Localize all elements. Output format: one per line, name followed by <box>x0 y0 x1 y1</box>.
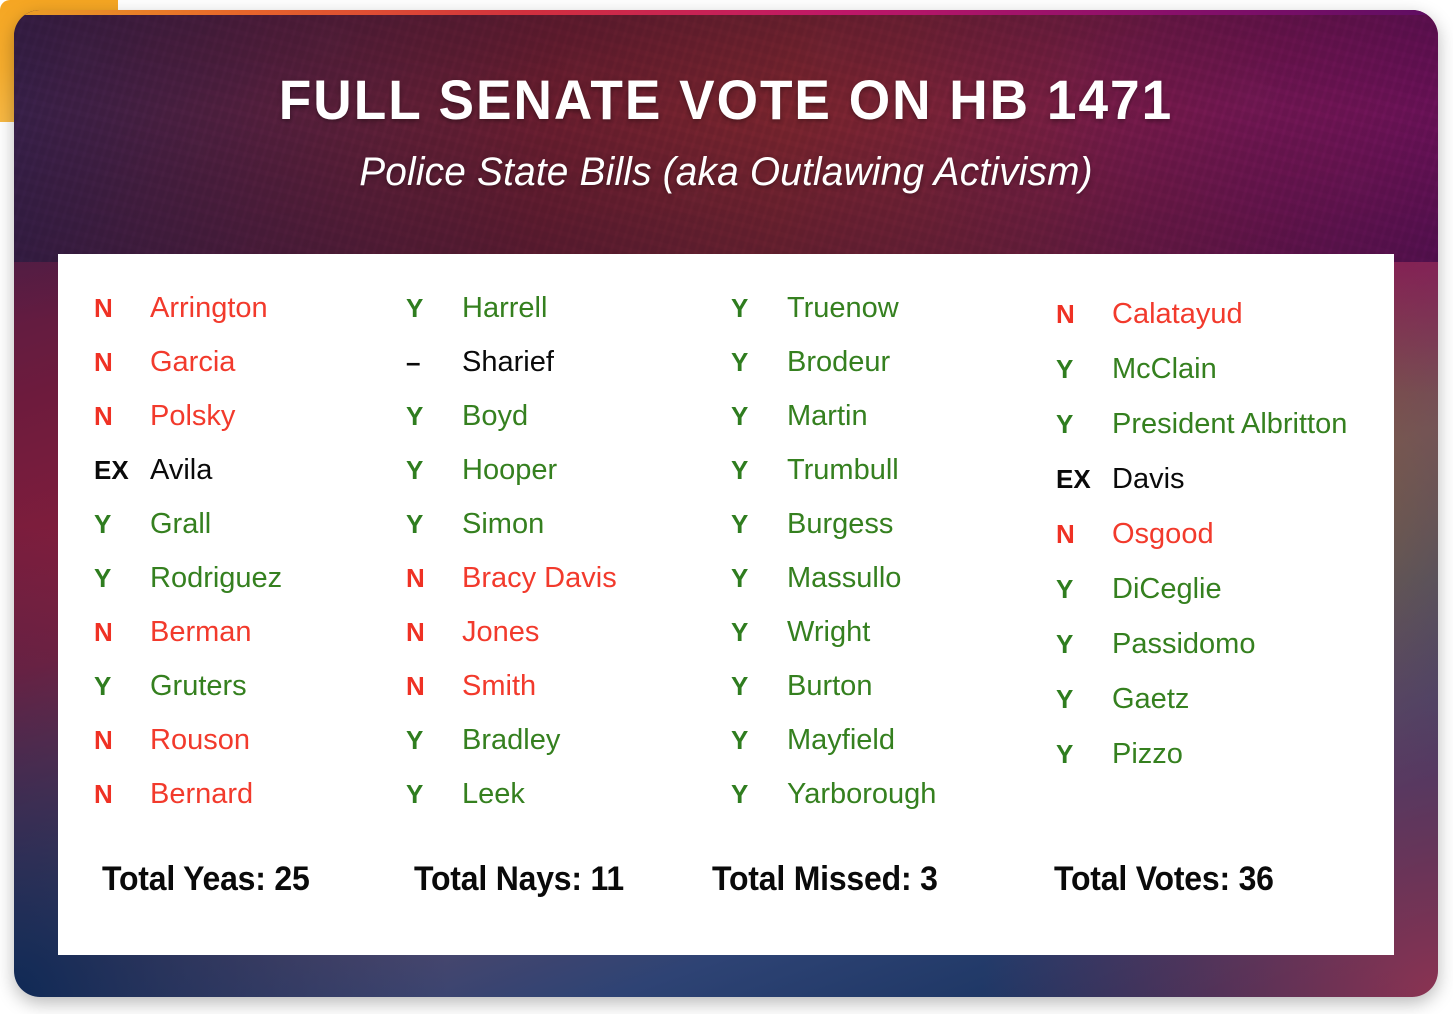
vote-row: YLeek <box>406 780 716 834</box>
vote-row: YSimon <box>406 510 716 564</box>
vote-row: YWright <box>731 618 1044 672</box>
vote-mark: EX <box>1056 466 1112 492</box>
legislator-name: Bradley <box>462 726 560 755</box>
vote-row: YGruters <box>94 672 388 726</box>
vote-mark: N <box>94 781 150 807</box>
vote-row: YGrall <box>94 510 388 564</box>
vote-mark: N <box>406 619 462 645</box>
vote-row: NOsgood <box>1056 520 1394 575</box>
vote-row: NCalatayud <box>1056 300 1394 355</box>
vote-mark: Y <box>1056 631 1112 657</box>
legislator-name: Smith <box>462 672 536 701</box>
legislator-name: Simon <box>462 510 544 539</box>
vote-row: –Sharief <box>406 348 716 402</box>
vote-row: YRodriguez <box>94 564 388 618</box>
legislator-name: Garcia <box>150 348 235 377</box>
vote-mark: N <box>406 673 462 699</box>
vote-row: NGarcia <box>94 348 388 402</box>
vote-mark: N <box>94 349 150 375</box>
legislator-name: Martin <box>787 402 868 431</box>
legislator-name: Boyd <box>462 402 528 431</box>
legislator-name: Trumbull <box>787 456 899 485</box>
legislator-name: Harrell <box>462 294 547 323</box>
vote-row: NArrington <box>94 294 388 348</box>
vote-mark: N <box>94 619 150 645</box>
vote-mark: Y <box>94 511 150 537</box>
vote-mark: Y <box>1056 741 1112 767</box>
legislator-name: Burton <box>787 672 872 701</box>
legislator-name: Burgess <box>787 510 893 539</box>
vote-row: NBerman <box>94 618 388 672</box>
vote-mark: Y <box>406 403 462 429</box>
legislator-name: Arrington <box>150 294 268 323</box>
legislator-name: Jones <box>462 618 539 647</box>
legislator-name: Mayfield <box>787 726 895 755</box>
vote-mark: EX <box>94 457 150 483</box>
vote-mark: Y <box>731 619 787 645</box>
page-title: FULL SENATE VOTE ON HB 1471 <box>50 72 1403 128</box>
legislator-name: Leek <box>462 780 525 809</box>
vote-mark: Y <box>406 511 462 537</box>
total-yeas: Total Yeas: 25 <box>102 860 395 899</box>
vote-column-2: YHarrell–ShariefYBoydYHooperYSimonNBracy… <box>388 284 716 834</box>
vote-mark: N <box>94 295 150 321</box>
vote-row: YPresident Albritton <box>1056 410 1394 465</box>
gradient-frame: FULL SENATE VOTE ON HB 1471 Police State… <box>14 10 1438 997</box>
page-subtitle: Police State Bills (aka Outlawing Activi… <box>35 150 1416 195</box>
vote-mark: Y <box>731 349 787 375</box>
vote-row: YDiCeglie <box>1056 575 1394 630</box>
legislator-name: Yarborough <box>787 780 936 809</box>
vote-mark: Y <box>406 295 462 321</box>
vote-row: NRouson <box>94 726 388 780</box>
vote-results-card: NArringtonNGarciaNPolskyEXAvilaYGrallYRo… <box>58 254 1394 955</box>
vote-row: YMartin <box>731 402 1044 456</box>
legislator-name: Davis <box>1112 465 1185 494</box>
vote-mark: Y <box>731 457 787 483</box>
legislator-name: Berman <box>150 618 252 647</box>
legislator-name: Gruters <box>150 672 247 701</box>
vote-mark: Y <box>406 781 462 807</box>
legislator-name: McClain <box>1112 355 1217 384</box>
vote-row: YTruenow <box>731 294 1044 348</box>
vote-row: YPizzo <box>1056 740 1394 795</box>
vote-row: YBurgess <box>731 510 1044 564</box>
vote-row: YYarborough <box>731 780 1044 834</box>
vote-row: YBoyd <box>406 402 716 456</box>
vote-row: YBrodeur <box>731 348 1044 402</box>
vote-row: YGaetz <box>1056 685 1394 740</box>
total-votes: Total Votes: 36 <box>1054 860 1336 899</box>
legislator-name: Pizzo <box>1112 740 1183 769</box>
vote-column-4: NCalatayudYMcClainYPresident AlbrittonEX… <box>1044 284 1394 834</box>
vote-row: NPolsky <box>94 402 388 456</box>
vote-row: YTrumbull <box>731 456 1044 510</box>
vote-row: YHooper <box>406 456 716 510</box>
legislator-name: President Albritton <box>1112 410 1347 439</box>
vote-mark: Y <box>731 781 787 807</box>
header-text-block: FULL SENATE VOTE ON HB 1471 Police State… <box>14 10 1438 195</box>
vote-mark: Y <box>731 673 787 699</box>
vote-mark: Y <box>1056 576 1112 602</box>
vote-mark: Y <box>731 403 787 429</box>
vote-mark: Y <box>1056 411 1112 437</box>
vote-mark: Y <box>1056 356 1112 382</box>
vote-mark: N <box>94 403 150 429</box>
legislator-name: Grall <box>150 510 211 539</box>
legislator-name: Passidomo <box>1112 630 1255 659</box>
totals-row: Total Yeas: 25Total Nays: 11Total Missed… <box>58 860 1394 899</box>
legislator-name: Rodriguez <box>150 564 282 593</box>
vote-mark: Y <box>731 565 787 591</box>
total-missed: Total Missed: 3 <box>712 860 1033 899</box>
vote-columns-container: NArringtonNGarciaNPolskyEXAvilaYGrallYRo… <box>58 254 1394 834</box>
vote-row: YMayfield <box>731 726 1044 780</box>
vote-row: YHarrell <box>406 294 716 348</box>
vote-mark: – <box>406 349 462 375</box>
vote-mark: Y <box>406 457 462 483</box>
vote-tally-graphic: FULL SENATE VOTE ON HB 1471 Police State… <box>0 0 1453 1014</box>
legislator-name: Hooper <box>462 456 557 485</box>
vote-mark: Y <box>731 511 787 537</box>
legislator-name: Bracy Davis <box>462 564 617 593</box>
legislator-name: Sharief <box>462 348 554 377</box>
vote-mark: Y <box>94 565 150 591</box>
vote-row: EXDavis <box>1056 465 1394 520</box>
vote-mark: N <box>1056 521 1112 547</box>
vote-mark: Y <box>94 673 150 699</box>
vote-row: NJones <box>406 618 716 672</box>
vote-mark: Y <box>731 295 787 321</box>
legislator-name: Osgood <box>1112 520 1214 549</box>
legislator-name: Truenow <box>787 294 899 323</box>
legislator-name: Bernard <box>150 780 253 809</box>
vote-row: NBracy Davis <box>406 564 716 618</box>
vote-row: NBernard <box>94 780 388 834</box>
vote-mark: N <box>406 565 462 591</box>
vote-row: EXAvila <box>94 456 388 510</box>
vote-mark: Y <box>406 727 462 753</box>
legislator-name: DiCeglie <box>1112 575 1222 604</box>
total-nays: Total Nays: 11 <box>414 860 694 899</box>
vote-mark: N <box>94 727 150 753</box>
vote-column-3: YTruenowYBrodeurYMartinYTrumbullYBurgess… <box>716 284 1044 834</box>
vote-row: YMcClain <box>1056 355 1394 410</box>
vote-row: NSmith <box>406 672 716 726</box>
legislator-name: Polsky <box>150 402 235 431</box>
vote-row: YPassidomo <box>1056 630 1394 685</box>
legislator-name: Rouson <box>150 726 250 755</box>
vote-mark: Y <box>1056 686 1112 712</box>
legislator-name: Massullo <box>787 564 901 593</box>
vote-row: YBurton <box>731 672 1044 726</box>
legislator-name: Avila <box>150 456 212 485</box>
vote-row: YMassullo <box>731 564 1044 618</box>
legislator-name: Brodeur <box>787 348 890 377</box>
legislator-name: Gaetz <box>1112 685 1189 714</box>
legislator-name: Calatayud <box>1112 300 1243 329</box>
vote-row: YBradley <box>406 726 716 780</box>
vote-mark: Y <box>731 727 787 753</box>
legislator-name: Wright <box>787 618 870 647</box>
vote-column-1: NArringtonNGarciaNPolskyEXAvilaYGrallYRo… <box>58 284 388 834</box>
vote-mark: N <box>1056 301 1112 327</box>
